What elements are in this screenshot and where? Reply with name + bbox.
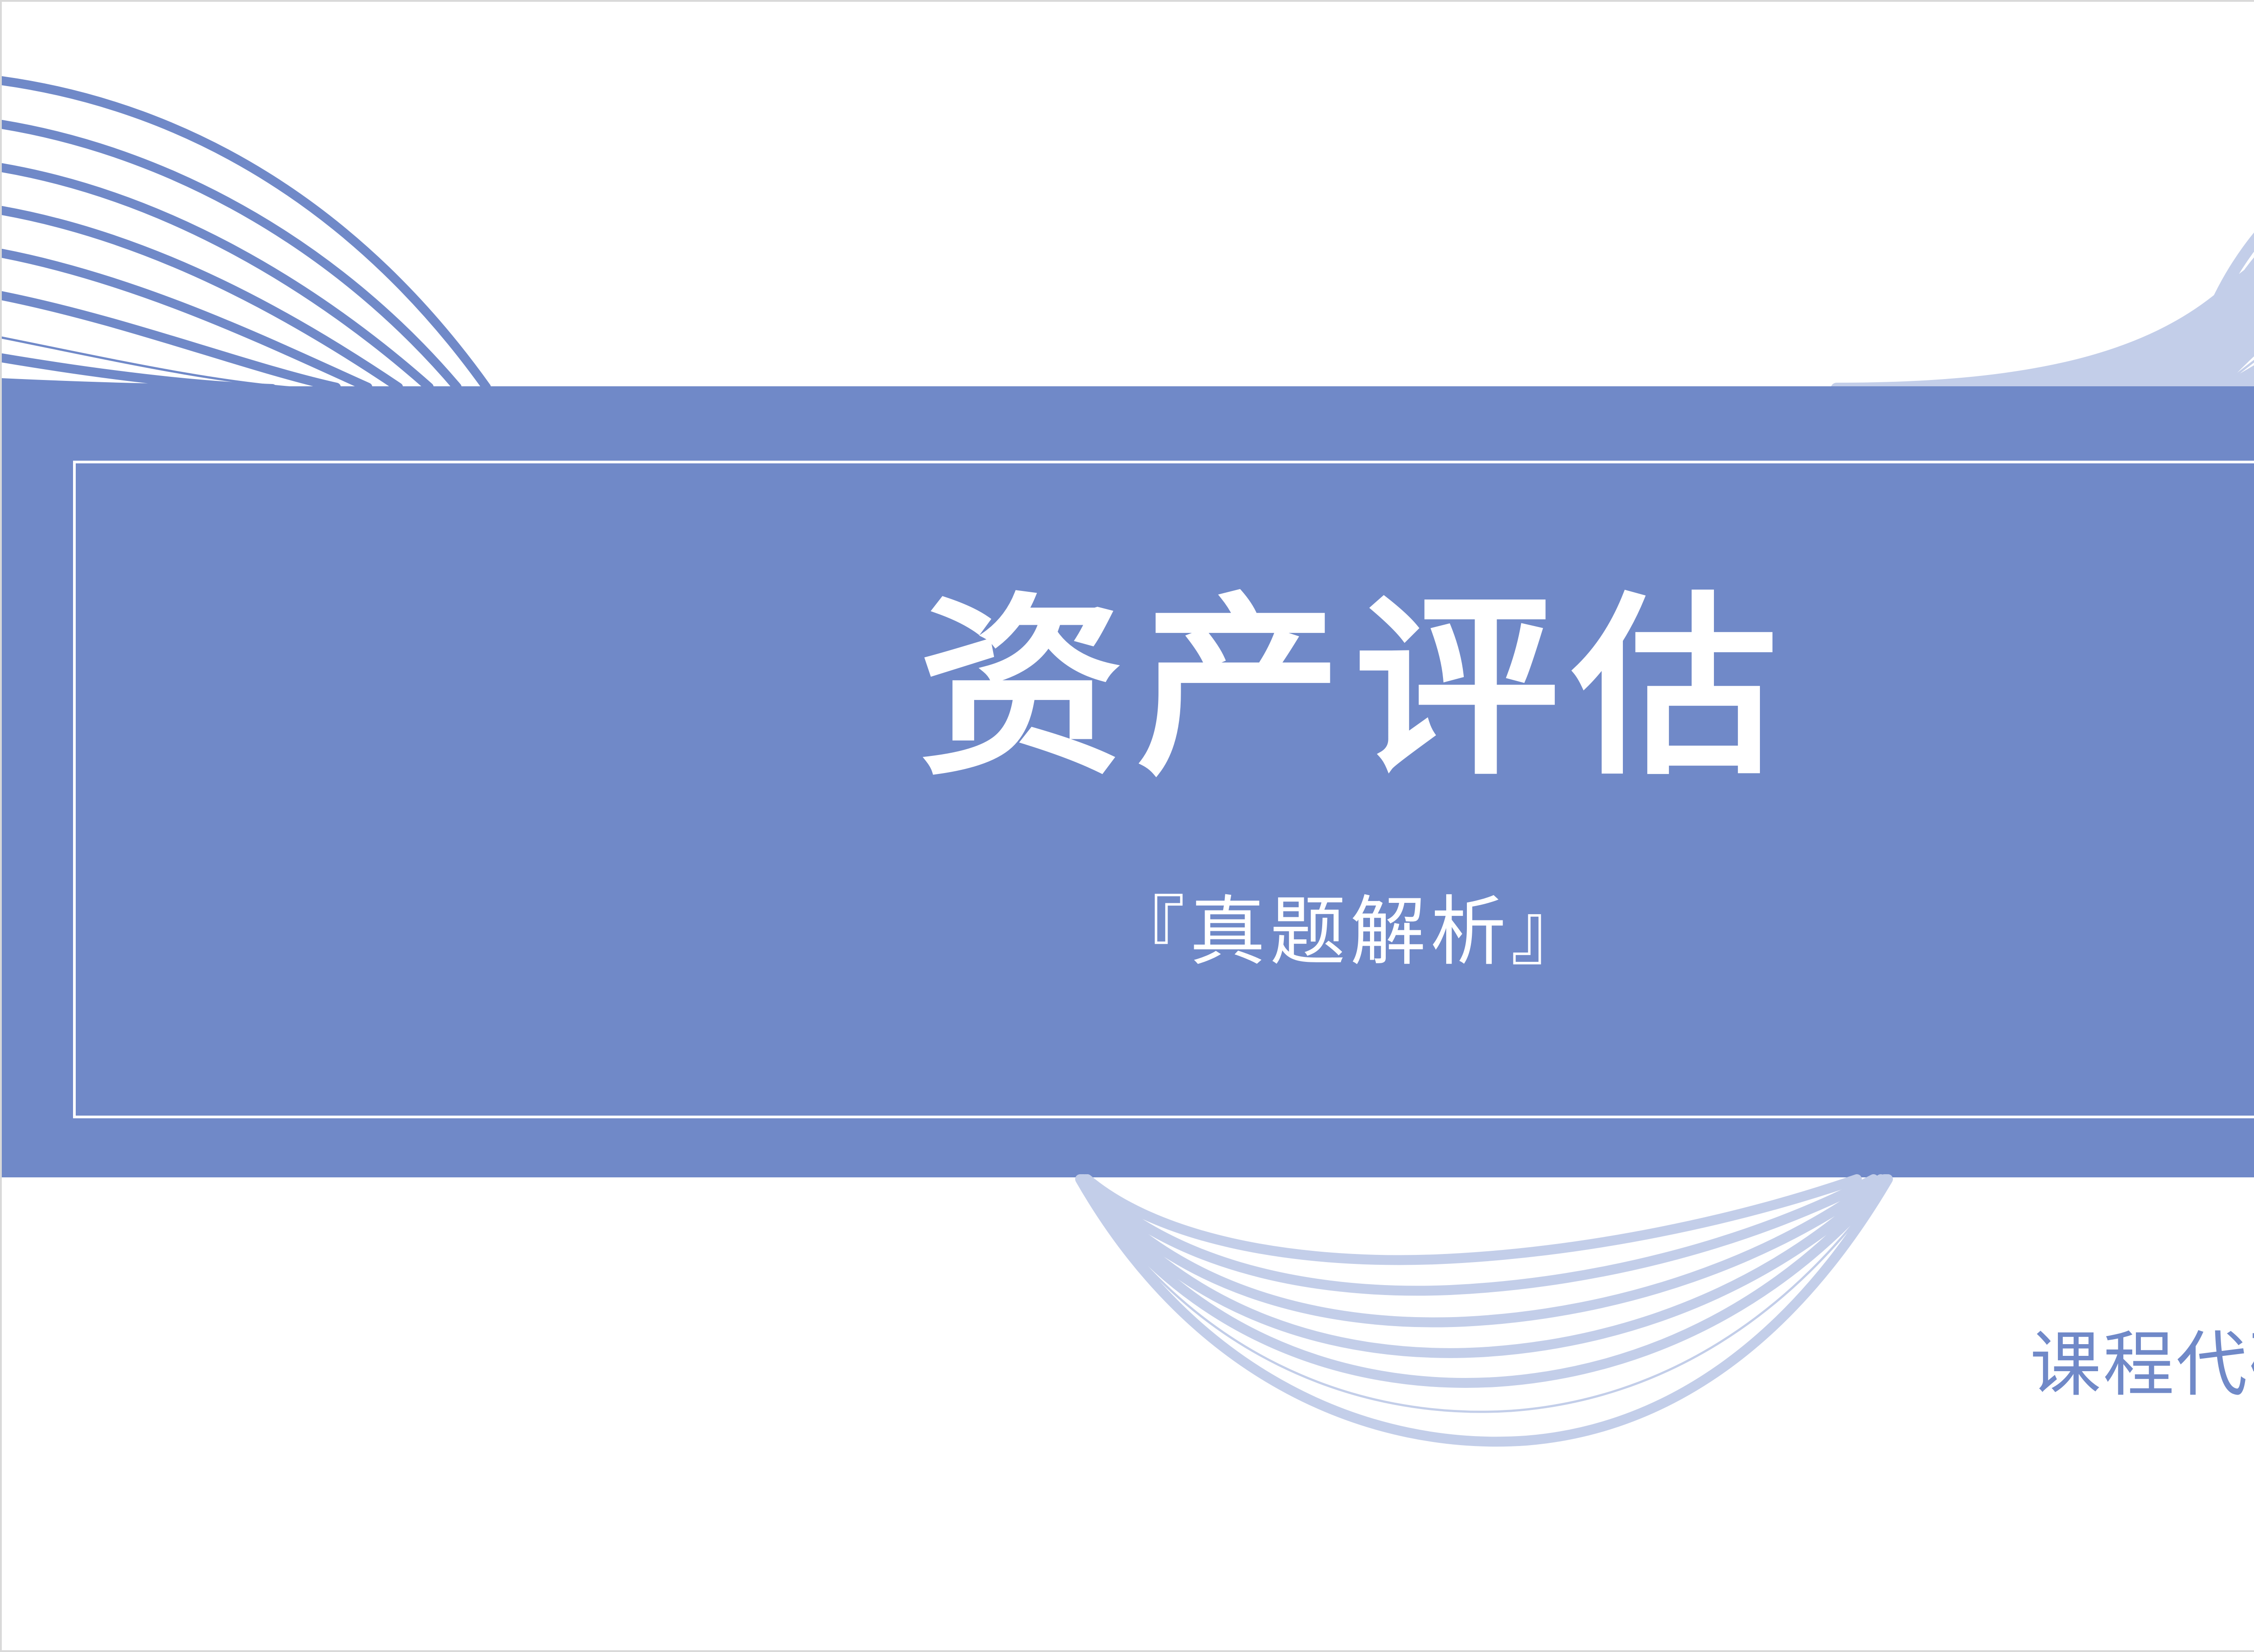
page-subtitle: 『真题解析』: [1105, 890, 1591, 974]
bottom-arc-fan: [1080, 1179, 1888, 1441]
slide-canvas: 资产评估 『真题解析』 课程代码：00158: [0, 0, 2254, 1652]
course-code-label: 课程代码：00158: [2030, 1307, 2254, 1410]
top-left-line-fan: [2, 81, 486, 389]
page-title: 资产评估: [906, 590, 1790, 788]
title-block: 资产评估 『真题解析』: [2, 386, 2254, 1177]
